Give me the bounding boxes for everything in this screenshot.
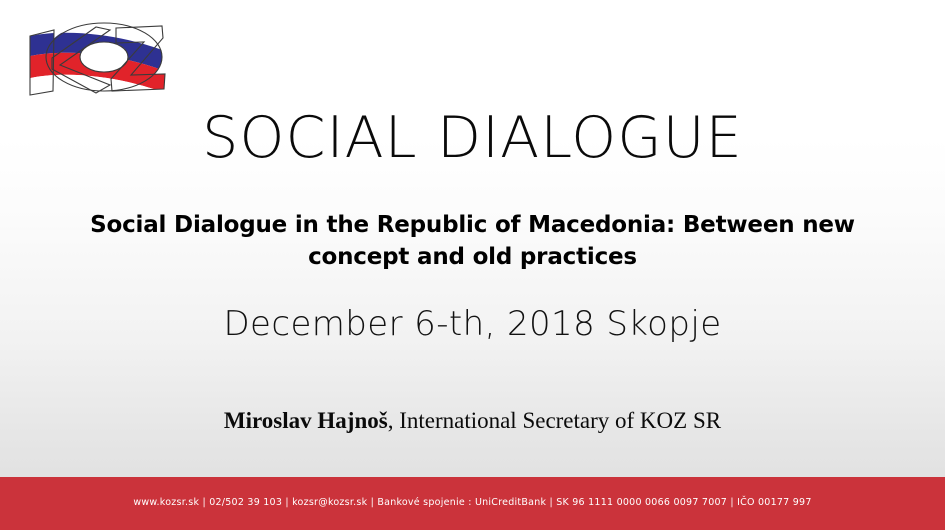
footer-bar: www.kozsr.sk | 02/502 39 103 | kozsr@koz… [0, 477, 945, 530]
presenter-role: , International Secretary of KOZ SR [388, 408, 721, 433]
presenter-name: Miroslav Hajnoš [224, 408, 388, 433]
koz-logo [12, 11, 174, 103]
koz-logo-graphic [12, 11, 174, 103]
slide-dateline: December 6-th, 2018 Skopje [0, 302, 945, 346]
footer-contact-text: www.kozsr.sk | 02/502 39 103 | kozsr@koz… [0, 496, 945, 509]
slide-title: SOCIAL DIALOGUE [0, 104, 945, 172]
presenter-line: Miroslav Hajnoš, International Secretary… [0, 406, 945, 436]
title-slide: SOCIAL DIALOGUE Social Dialogue in the R… [0, 0, 945, 530]
slide-subtitle: Social Dialogue in the Republic of Maced… [42, 209, 903, 273]
